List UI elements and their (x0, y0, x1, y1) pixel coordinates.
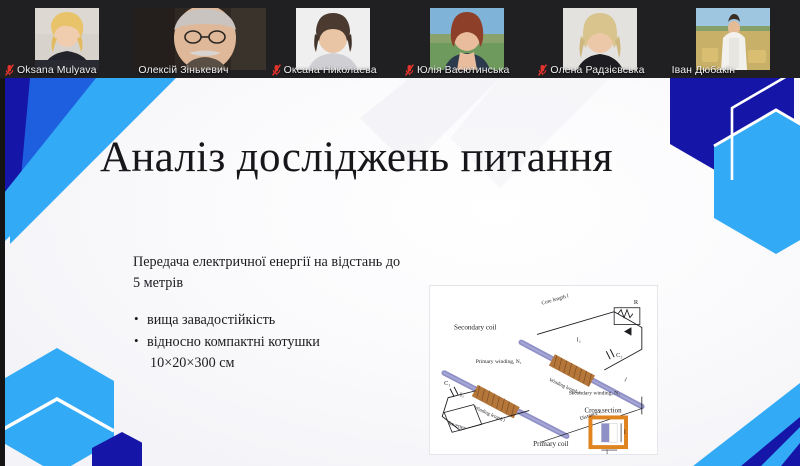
participant-namebar: Іван Дюбакін (667, 61, 800, 78)
label-primary-coil: Primary coil (533, 440, 568, 448)
participant-tile[interactable]: Юлія Васютинська (400, 0, 533, 78)
slide-body: Передача електричної енергії на відстань… (133, 252, 408, 375)
participant-name: Юлія Васютинська (417, 64, 509, 76)
mic-muted-icon (538, 64, 547, 76)
label-c2: C₂ (616, 352, 622, 359)
label-primary-winding: Primary winding, N₁ (476, 359, 522, 365)
bullet-subtext: 10×20×300 см (147, 353, 408, 375)
participant-name: Олексій Зінькевич (138, 64, 228, 76)
dcrs-diagram-svg: Secondary coil Primary coil Core length … (430, 286, 657, 454)
participant-tile-active-speaker[interactable]: Іван Дюбакін (667, 0, 800, 78)
slide-title: Аналіз досліджень питання (100, 135, 710, 180)
slide-left-edge (0, 78, 5, 466)
label-secondary-coil: Secondary coil (454, 323, 496, 331)
mic-muted-icon (405, 64, 414, 76)
list-item: вища завадостійкість (133, 310, 408, 332)
bullet-text: вища завадостійкість (147, 312, 275, 328)
participant-tile[interactable]: Oksana Mulyava (0, 0, 133, 78)
label-i2: I₂ (577, 337, 581, 343)
zoom-meeting-window: Oksana Mulyava (0, 0, 800, 466)
dcrs-diagram: Secondary coil Primary coil Core length … (429, 285, 658, 455)
list-item: відносно компактні котушки 10×20×300 см (133, 332, 408, 375)
deco-bottom-right (635, 331, 800, 466)
deco-bottom-left (0, 326, 142, 466)
participant-tile[interactable]: Олена Радзієвська (533, 0, 666, 78)
participant-tile[interactable]: Олексій Зінькевич (133, 0, 266, 78)
label-cross-section: Cross section (585, 407, 623, 414)
label-c1: C₁ (444, 380, 450, 387)
participant-name: Олена Радзієвська (550, 64, 644, 76)
bullet-list: вища завадостійкість відносно компактні … (133, 310, 408, 375)
participant-namebar: Оксана Николаева (267, 61, 400, 78)
mic-muted-icon (5, 64, 14, 76)
label-i1: I₁ (460, 393, 464, 399)
mic-muted-icon (272, 64, 281, 76)
participant-name: Іван Дюбакін (672, 64, 735, 76)
participant-namebar: Юлія Васютинська (400, 61, 533, 78)
participant-namebar: Oksana Mulyava (0, 61, 133, 78)
bullet-text: відносно компактні котушки (147, 334, 320, 350)
participant-tile[interactable]: Оксана Николаева (267, 0, 400, 78)
body-lead: Передача електричної енергії на відстань… (133, 252, 408, 293)
participant-name: Оксана Николаева (284, 64, 377, 76)
participant-filmstrip: Oksana Mulyava (0, 0, 800, 78)
shared-slide: Аналіз досліджень питання Передача елект… (0, 78, 800, 466)
participant-namebar: Олена Радзієвська (533, 61, 666, 78)
participant-name: Oksana Mulyava (17, 64, 97, 76)
participant-namebar: Олексій Зінькевич (133, 61, 266, 78)
